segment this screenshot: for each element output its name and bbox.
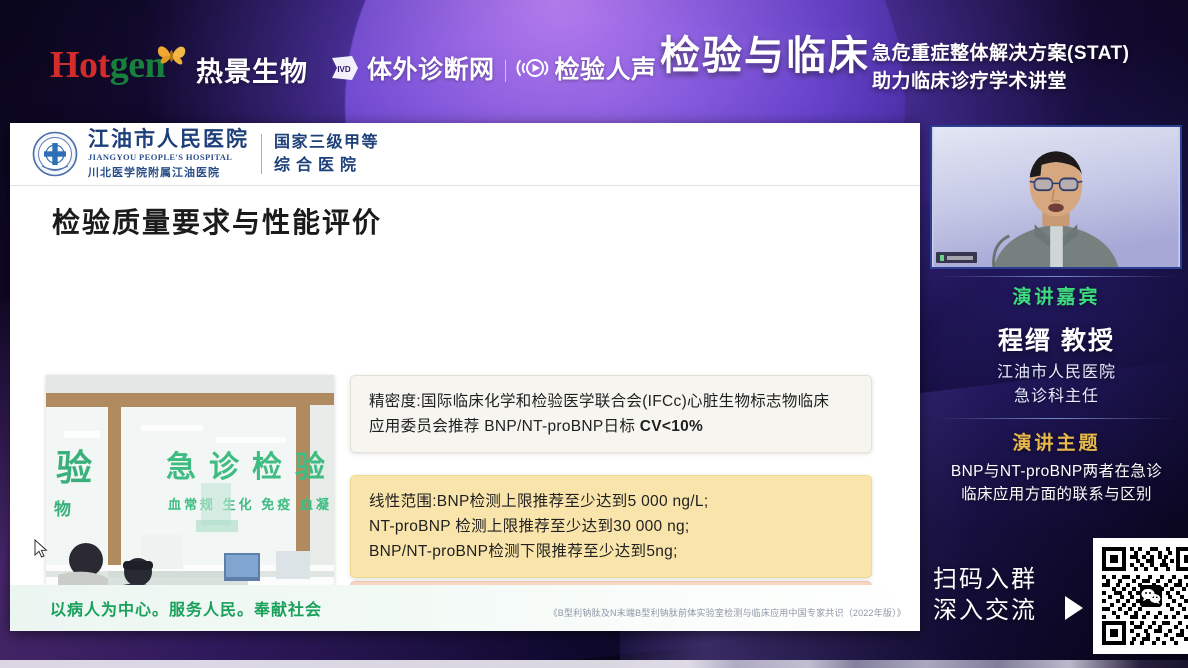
video-badge-label-bar	[947, 256, 973, 260]
sidebar-divider-middle	[937, 418, 1176, 419]
box-precision-cv-value: CV<10%	[640, 418, 703, 435]
hospital-motto: 以病人为中心。服务人民。奉献社会	[50, 596, 322, 620]
box-linearity-line-1: 线性范围:BNP检测上限推荐至少达到5 000 ng/L;	[369, 489, 855, 514]
hospital-seal-icon	[32, 131, 78, 177]
box-linearity-line-3: BNP/NT-proBNP检测下限推荐至少达到5ng;	[369, 539, 855, 564]
topic-line-1: BNP与NT-proBNP两者在急诊	[933, 460, 1180, 483]
slide-citation: 《B型利钠肽及N末端B型利钠肽前体实验室检测与临床应用中国专家共识（2022年版…	[549, 606, 906, 619]
speaker-organization: 江油市人民医院 急诊科主任	[925, 361, 1188, 409]
partner-logos: IVD 体外诊断网 检验人声	[330, 50, 657, 86]
speaker-org-line-1: 江油市人民医院	[925, 361, 1188, 385]
hospital-affiliation-cn: 川北医学院附属江油医院	[88, 164, 249, 180]
partner-ivd-label: 体外诊断网	[367, 50, 495, 86]
program-subtitle: 急危重症整体解决方案(STAT) 助力临床诊疗学术讲堂	[872, 40, 1129, 95]
box-precision-line-2: 应用委员会推荐 BNP/NT-proBNP日标 CV<10%	[369, 414, 855, 439]
svg-text:IVD: IVD	[337, 65, 351, 74]
hospital-name-cn: 江油市人民医院	[88, 128, 249, 151]
svg-text:血常规 生化 免疫 血凝: 血常规 生化 免疫 血凝	[168, 497, 332, 512]
hospital-name-en: JIANGYOU PEOPLE'S HOSPITAL	[88, 152, 249, 162]
sidebar-divider-top	[937, 276, 1176, 277]
qr-cta-text: 扫码入群 深入交流	[933, 565, 1037, 626]
mouse-cursor-icon	[34, 539, 48, 559]
qr-cta-line-2: 深入交流	[933, 596, 1037, 627]
box-precision-line-1: 精密度:国际临床化学和检验医学联合会(IFCc)心脏生物标志物临床	[369, 389, 855, 414]
svg-text:物: 物	[54, 499, 71, 519]
speaker-webcam-image	[932, 127, 1180, 267]
play-arrow-icon	[1065, 596, 1083, 620]
qr-code-image	[1098, 543, 1188, 649]
hospital-grade-line-1: 国家三级甲等	[274, 131, 379, 154]
svg-text:急诊检验: 急诊检验	[166, 450, 334, 484]
svg-text:验: 验	[56, 447, 92, 488]
butterfly-icon	[155, 40, 189, 72]
slide-header: 江油市人民医院 JIANGYOU PEOPLE'S HOSPITAL 川北医学院…	[10, 123, 920, 185]
hospital-name-block: 江油市人民医院 JIANGYOU PEOPLE'S HOSPITAL 川北医学院…	[88, 128, 249, 180]
topic-text: BNP与NT-proBNP两者在急诊 临床应用方面的联系与区别	[933, 460, 1180, 507]
hospital-header-divider	[261, 134, 262, 174]
speaker-sidebar: 演讲嘉宾 程缙 教授 江油市人民医院 急诊科主任 演讲主题 BNP与NT-pro…	[925, 118, 1188, 668]
hotgen-cn-name: 热景生物	[196, 50, 308, 89]
qr-cta-line-1: 扫码入群	[933, 565, 1037, 596]
box-linearity-line-2: NT-proBNP 检测上限推荐至少达到30 000 ng;	[369, 514, 855, 539]
program-title: 检验与临床	[660, 36, 870, 76]
partner-voice-label: 检验人声	[555, 50, 657, 86]
slide-title: 检验质量要求与性能评价	[52, 201, 382, 241]
box-precision: 精密度:国际临床化学和检验医学联合会(IFCc)心脏生物标志物临床 应用委员会推…	[350, 375, 872, 453]
video-overlay-badge	[936, 252, 977, 263]
guest-label: 演讲嘉宾	[925, 282, 1188, 309]
topic-line-2: 临床应用方面的联系与区别	[933, 483, 1180, 506]
presentation-slide[interactable]: 江油市人民医院 JIANGYOU PEOPLE'S HOSPITAL 川北医学院…	[10, 123, 920, 631]
wechat-qr-code[interactable]	[1093, 538, 1188, 654]
program-subtitle-line-1: 急危重症整体解决方案(STAT)	[872, 40, 1129, 68]
topic-label: 演讲主题	[925, 428, 1188, 455]
hotgen-wordmark-part-1: Hot	[50, 44, 110, 86]
box-linearity: 线性范围:BNP检测上限推荐至少达到5 000 ng/L; NT-proBNP …	[350, 475, 872, 578]
box-precision-line-2-text: 应用委员会推荐 BNP/NT-proBNP日标	[369, 418, 640, 435]
hospital-identity: 江油市人民医院 JIANGYOU PEOPLE'S HOSPITAL 川北医学院…	[88, 128, 379, 180]
ivd-icon: IVD	[330, 55, 360, 81]
broadcast-stage: Hotgen 热景生物 IVD 体外诊断网	[0, 0, 1188, 668]
sound-wave-play-icon	[516, 55, 550, 81]
bottom-progress-strip[interactable]	[0, 660, 1188, 668]
hospital-grade-block: 国家三级甲等 综合医院	[274, 131, 379, 177]
partner-divider	[505, 60, 506, 82]
speaker-org-line-2: 急诊科主任	[925, 385, 1188, 409]
header-banner: Hotgen 热景生物 IVD 体外诊断网	[0, 0, 1188, 110]
hotgen-wordmark: Hotgen	[50, 46, 165, 84]
hospital-grade-line-2: 综合医院	[274, 154, 379, 177]
slide-header-rule	[10, 185, 920, 186]
speaker-name: 程缙 教授	[925, 321, 1188, 357]
speaker-video-tile[interactable]	[930, 125, 1182, 269]
program-subtitle-line-2: 助力临床诊疗学术讲堂	[872, 68, 1129, 96]
qr-join-block[interactable]: 扫码入群 深入交流	[925, 533, 1188, 668]
video-badge-indicator	[940, 255, 944, 261]
